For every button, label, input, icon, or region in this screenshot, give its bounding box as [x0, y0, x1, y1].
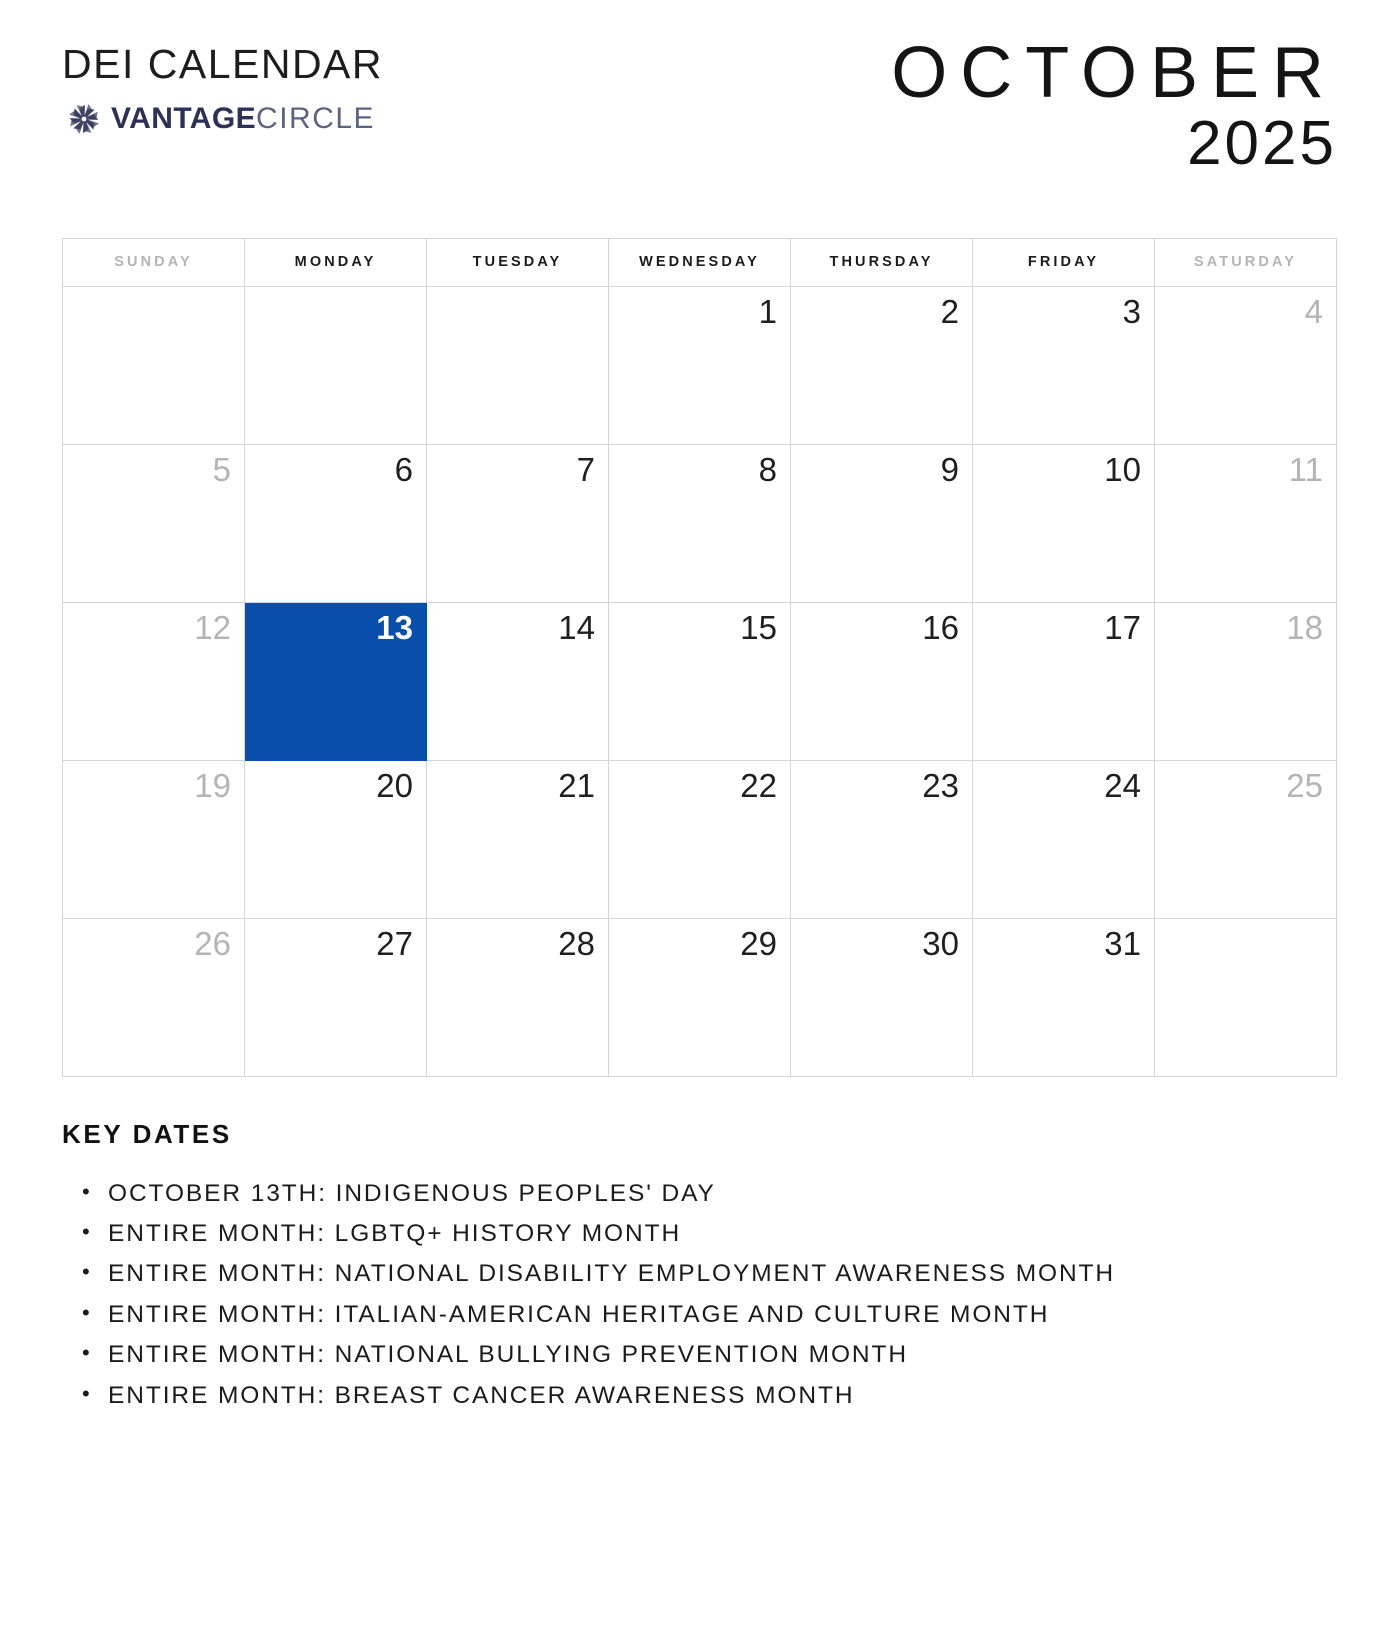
day-cell-empty	[63, 286, 245, 444]
weekday-header-monday: MONDAY	[245, 238, 427, 286]
day-cell-28[interactable]: 28	[427, 918, 609, 1076]
weekday-header-thursday: THURSDAY	[791, 238, 973, 286]
calendar-body: 1 2 3 4 5 6 7 8 9 10 11 12 13 14	[63, 286, 1337, 1076]
weekday-header-saturday: SATURDAY	[1155, 238, 1337, 286]
day-cell-5[interactable]: 5	[63, 444, 245, 602]
brand-wordmark: VANTAGECIRCLE	[111, 104, 375, 134]
day-cell-16[interactable]: 16	[791, 602, 973, 760]
list-item: ENTIRE MONTH: NATIONAL BULLYING PREVENTI…	[108, 1335, 1337, 1375]
day-cell-6[interactable]: 6	[245, 444, 427, 602]
calendar-week-row: 26 27 28 29 30 31	[63, 918, 1337, 1076]
wordmark-circle: CIRCLE	[256, 102, 375, 135]
page-title: DEI CALENDAR	[62, 44, 383, 85]
month-title-block: OCTOBER 2025	[891, 38, 1337, 176]
key-dates-title: KEY DATES	[62, 1119, 1337, 1150]
weekday-header-row: SUNDAY MONDAY TUESDAY WEDNESDAY THURSDAY…	[63, 238, 1337, 286]
day-cell-13-highlighted[interactable]: 13	[245, 602, 427, 760]
brand-block: DEI CALENDAR	[62, 38, 383, 139]
day-cell-24[interactable]: 24	[973, 760, 1155, 918]
day-cell-23[interactable]: 23	[791, 760, 973, 918]
day-cell-29[interactable]: 29	[609, 918, 791, 1076]
list-item: OCTOBER 13TH: INDIGENOUS PEOPLES' DAY	[108, 1174, 1337, 1214]
day-cell-21[interactable]: 21	[427, 760, 609, 918]
key-dates-list: OCTOBER 13TH: INDIGENOUS PEOPLES' DAY EN…	[62, 1174, 1337, 1417]
day-cell-11[interactable]: 11	[1155, 444, 1337, 602]
month-year: 2025	[891, 111, 1337, 176]
day-cell-20[interactable]: 20	[245, 760, 427, 918]
day-cell-3[interactable]: 3	[973, 286, 1155, 444]
day-cell-4[interactable]: 4	[1155, 286, 1337, 444]
page-header: DEI CALENDAR	[0, 0, 1399, 176]
calendar-grid: SUNDAY MONDAY TUESDAY WEDNESDAY THURSDAY…	[62, 238, 1337, 1077]
day-cell-empty	[245, 286, 427, 444]
day-cell-8[interactable]: 8	[609, 444, 791, 602]
wordmark-vantage: VANTAGE	[111, 102, 256, 135]
calendar-container: SUNDAY MONDAY TUESDAY WEDNESDAY THURSDAY…	[0, 238, 1399, 1077]
weekday-header-friday: FRIDAY	[973, 238, 1155, 286]
day-cell-1[interactable]: 1	[609, 286, 791, 444]
brand-logo: VANTAGECIRCLE	[62, 99, 383, 139]
weekday-header-sunday: SUNDAY	[63, 238, 245, 286]
day-cell-9[interactable]: 9	[791, 444, 973, 602]
list-item: ENTIRE MONTH: LGBTQ+ HISTORY MONTH	[108, 1214, 1337, 1254]
weekday-header-wednesday: WEDNESDAY	[609, 238, 791, 286]
list-item: ENTIRE MONTH: BREAST CANCER AWARENESS MO…	[108, 1376, 1337, 1416]
day-cell-30[interactable]: 30	[791, 918, 973, 1076]
day-cell-12[interactable]: 12	[63, 602, 245, 760]
day-cell-empty	[1155, 918, 1337, 1076]
day-cell-19[interactable]: 19	[63, 760, 245, 918]
day-cell-25[interactable]: 25	[1155, 760, 1337, 918]
calendar-week-row: 19 20 21 22 23 24 25	[63, 760, 1337, 918]
weekday-header-tuesday: TUESDAY	[427, 238, 609, 286]
day-cell-14[interactable]: 14	[427, 602, 609, 760]
list-item: ENTIRE MONTH: NATIONAL DISABILITY EMPLOY…	[108, 1254, 1337, 1294]
vantage-circle-flower-icon	[62, 99, 106, 139]
day-cell-27[interactable]: 27	[245, 918, 427, 1076]
list-item-text: ENTIRE MONTH: ITALIAN-AMERICAN HERITAGE …	[108, 1295, 1337, 1335]
day-cell-31[interactable]: 31	[973, 918, 1155, 1076]
calendar-week-row: 12 13 14 15 16 17 18	[63, 602, 1337, 760]
day-cell-empty	[427, 286, 609, 444]
day-cell-2[interactable]: 2	[791, 286, 973, 444]
list-item: ENTIRE MONTH: ITALIAN-AMERICAN HERITAGE …	[108, 1295, 1337, 1335]
day-cell-15[interactable]: 15	[609, 602, 791, 760]
day-cell-18[interactable]: 18	[1155, 602, 1337, 760]
day-cell-17[interactable]: 17	[973, 602, 1155, 760]
day-cell-7[interactable]: 7	[427, 444, 609, 602]
calendar-week-row: 5 6 7 8 9 10 11	[63, 444, 1337, 602]
month-name: OCTOBER	[891, 38, 1337, 109]
list-item-text: ENTIRE MONTH: NATIONAL DISABILITY EMPLOY…	[108, 1254, 1337, 1294]
calendar-week-row: 1 2 3 4	[63, 286, 1337, 444]
key-dates-section: KEY DATES OCTOBER 13TH: INDIGENOUS PEOPL…	[0, 1119, 1399, 1417]
day-cell-10[interactable]: 10	[973, 444, 1155, 602]
dei-calendar-page: DEI CALENDAR	[0, 0, 1399, 1651]
day-cell-22[interactable]: 22	[609, 760, 791, 918]
day-cell-26[interactable]: 26	[63, 918, 245, 1076]
